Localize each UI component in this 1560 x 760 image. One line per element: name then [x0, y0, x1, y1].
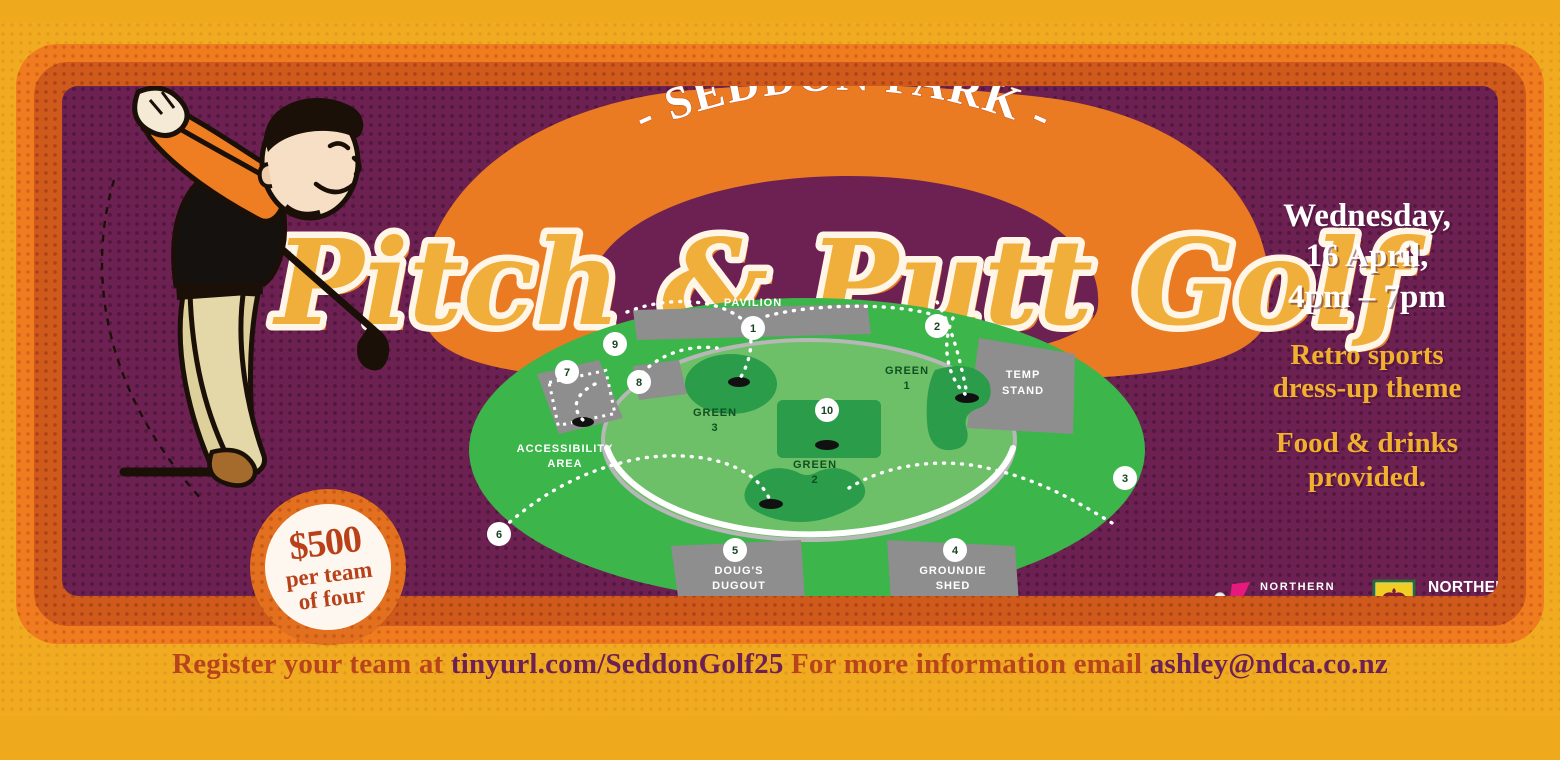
price-badge-inner: $500 per team of four — [258, 497, 398, 637]
groundie-shed-label-2: SHED — [936, 580, 971, 592]
hole-10 — [815, 440, 839, 450]
register-url[interactable]: tinyurl.com/SeddonGolf25 — [451, 648, 784, 680]
price-badge: $500 per team of four — [250, 489, 406, 645]
register-prefix: Register your team at — [172, 648, 451, 680]
tee-marker-5[interactable]: 5 — [723, 538, 747, 562]
accessibility-label-1: ACCESSIBILITY — [517, 443, 614, 455]
svg-text:10: 10 — [821, 405, 833, 417]
dresscode-line-2: dress-up theme — [1217, 372, 1498, 405]
svg-text:1: 1 — [750, 323, 756, 335]
svg-text:8: 8 — [636, 377, 642, 389]
groundie-shed-label-1: GROUNDIE — [919, 565, 986, 577]
svg-text:5: 5 — [732, 545, 738, 557]
venue-arc-text: - SEDDON PARK - — [626, 86, 1061, 142]
ndc-line-1: NORTHERN — [1428, 579, 1498, 596]
svg-text:9: 9 — [612, 339, 618, 351]
ndc-logo: NORTHERN DISTRICTS CRICKET — [1371, 578, 1498, 596]
sponsor-logos: NORTHERN BRAVE — [1212, 570, 1498, 596]
temp-stand-label-2: STAND — [1002, 385, 1044, 397]
pavilion-label: PAVILION — [724, 297, 782, 309]
tee-marker-9[interactable]: 9 — [603, 332, 627, 356]
course-map: PAVILION TEMP STAND ACCESSIBILITY AREA — [467, 282, 1207, 596]
tee-marker-10[interactable]: 10 — [815, 398, 839, 422]
dougs-dugout-label-2: DUGOUT — [712, 580, 766, 592]
catering-line-1: Food & drinks — [1217, 427, 1498, 460]
svg-text:6: 6 — [496, 529, 502, 541]
svg-text:- SEDDON PARK -: - SEDDON PARK - — [626, 86, 1061, 142]
green-3-label-2: 3 — [711, 422, 718, 434]
tee-marker-2[interactable]: 2 — [925, 314, 949, 338]
info-prefix: For more information email — [784, 648, 1150, 680]
tee-marker-3[interactable]: 3 — [1113, 466, 1137, 490]
green-2-label-2: 2 — [811, 474, 818, 486]
event-date: 16 April, — [1217, 236, 1498, 276]
svg-text:3: 3 — [1122, 473, 1128, 485]
ndc-shield-icon — [1371, 578, 1417, 596]
event-datetime: Wednesday, 16 April, 4pm – 7pm — [1217, 196, 1498, 317]
hole-2 — [955, 393, 979, 403]
register-bar: Register your team at tinyurl.com/Seddon… — [0, 648, 1560, 681]
ndc-text-block: NORTHERN DISTRICTS CRICKET — [1428, 579, 1498, 596]
event-time: 4pm – 7pm — [1217, 277, 1498, 317]
tee-marker-6[interactable]: 6 — [487, 522, 511, 546]
green-1-label-1: GREEN — [885, 365, 929, 377]
tee-marker-4[interactable]: 4 — [943, 538, 967, 562]
contact-email[interactable]: ashley@ndca.co.nz — [1150, 648, 1388, 680]
svg-text:7: 7 — [564, 367, 570, 379]
event-day: Wednesday, — [1217, 196, 1498, 236]
dresscode-line-1: Retro sports — [1217, 339, 1498, 372]
tee-marker-7[interactable]: 7 — [555, 360, 579, 384]
temp-stand-label-1: TEMP — [1006, 369, 1041, 381]
catering-note: Food & drinks provided. — [1217, 427, 1498, 494]
brave-wordmark: BRAVE — [1234, 594, 1334, 596]
northern-brave-logo: NORTHERN BRAVE — [1212, 576, 1347, 596]
tee-marker-8[interactable]: 8 — [627, 370, 651, 394]
tee-marker-1[interactable]: 1 — [741, 316, 765, 340]
poster-root: - SEDDON PARK - Pitch & Putt Golf Pitch … — [0, 0, 1560, 760]
catering-line-2: provided. — [1217, 461, 1498, 494]
dougs-dugout-label-1: DOUG'S — [715, 565, 764, 577]
hole-6 — [759, 499, 783, 509]
brave-top-text: NORTHERN — [1260, 581, 1335, 593]
dresscode-note: Retro sports dress-up theme — [1217, 339, 1498, 406]
green-2-label-1: GREEN — [793, 459, 837, 471]
svg-text:2: 2 — [934, 321, 940, 333]
event-details: Wednesday, 16 April, 4pm – 7pm Retro spo… — [1217, 196, 1498, 494]
hole-1 — [728, 377, 750, 387]
svg-text:4: 4 — [952, 545, 959, 557]
accessibility-label-2: AREA — [547, 458, 582, 470]
green-3-label-1: GREEN — [693, 407, 737, 419]
green-1-label-2: 1 — [903, 380, 910, 392]
